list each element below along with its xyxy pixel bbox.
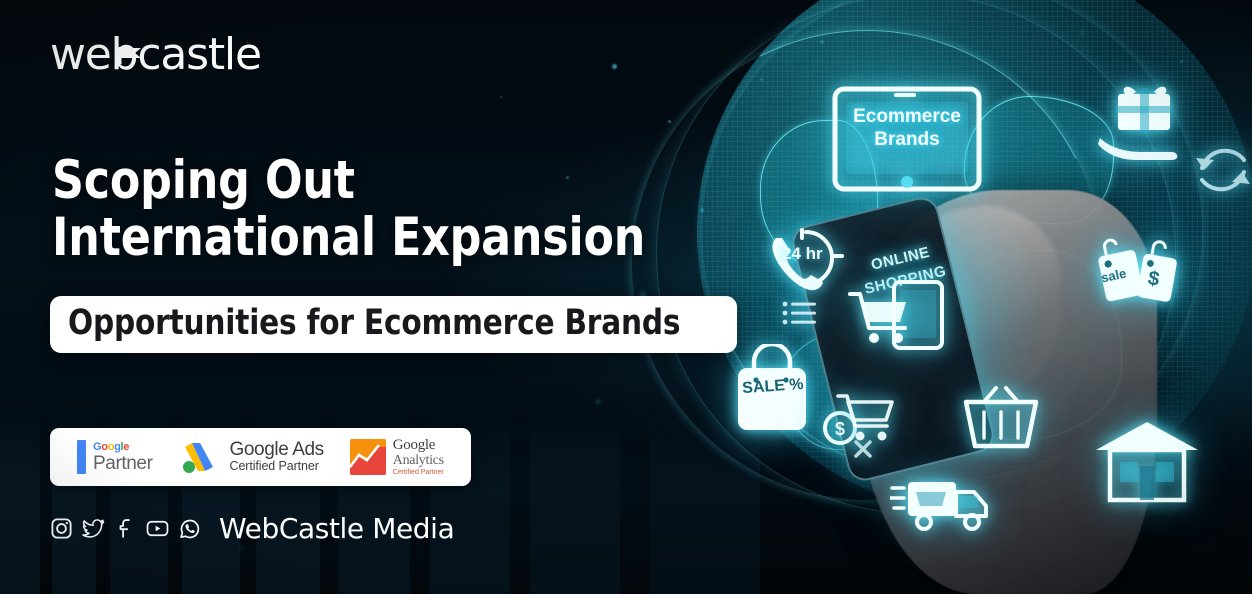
store-house-icon [1092,416,1202,504]
badge-google-analytics-subtitle: Analytics [393,453,444,468]
tablet-label-line2: Brands [838,129,976,152]
certification-badges: Google Partner Google Ads Certified Part… [50,428,471,486]
shopping-cart-tablet-icon [848,280,946,366]
facebook-icon[interactable] [114,517,137,540]
logo-text-castle: castle [137,29,260,80]
youtube-icon[interactable] [146,517,169,540]
instagram-icon[interactable] [50,517,73,540]
badge-google-analytics[interactable]: Google Analytics Certified Partner [337,437,457,477]
badge-google-analytics-certified: Certified Partner [393,469,444,477]
support-24hr-phone-icon [762,222,846,306]
google-partner-bar-icon [77,440,86,474]
badge-google-ads-title: Google Ads [230,440,324,460]
google-wordmark: Google [93,442,153,453]
twitter-icon[interactable] [82,517,105,540]
headline-line-1: Scoping Out [52,152,694,209]
badge-google-partner[interactable]: Google Partner [64,440,166,474]
banner-content: webcastle Scoping Out International Expa… [0,0,760,594]
shopping-basket-icon [962,386,1040,452]
company-name: WebCastle Media [219,512,454,545]
badge-google-ads-subtitle: Certified Partner [230,460,324,473]
headline: Scoping Out International Expansion [52,152,742,266]
headline-line-2: International Expansion [52,209,694,266]
social-row: WebCastle Media [50,512,454,545]
google-ads-icon [179,439,223,475]
webcastle-logo[interactable]: webcastle [50,33,261,77]
whatsapp-icon[interactable] [178,517,201,540]
tablet-label-line1: Ecommerce [838,106,976,129]
flag-icon [118,28,144,45]
shopping-cart-icon [836,388,902,446]
tablet-ecommerce-label: Ecommerce Brands [838,106,976,152]
support-24hr-label: 24 hr [782,244,823,264]
badge-google-ads[interactable]: Google Ads Certified Partner [166,439,337,475]
badge-google-analytics-title: Google [393,437,444,453]
list-icon [782,300,818,326]
google-analytics-icon [350,439,386,475]
logo-wordmark: webcastle [50,33,261,77]
badge-google-partner-title: Partner [93,454,153,473]
gift-box-in-hand-icon [1096,78,1200,174]
marketing-banner: ONLINE SHOPPING Ecommerce Brands 24 hr [0,0,1252,594]
subtitle-highlight-box: Opportunities for Ecommerce Brands [50,296,737,353]
refresh-arrows-icon [1192,140,1252,202]
subtitle-text: Opportunities for Ecommerce Brands [68,304,680,343]
delivery-truck-icon [890,470,998,536]
